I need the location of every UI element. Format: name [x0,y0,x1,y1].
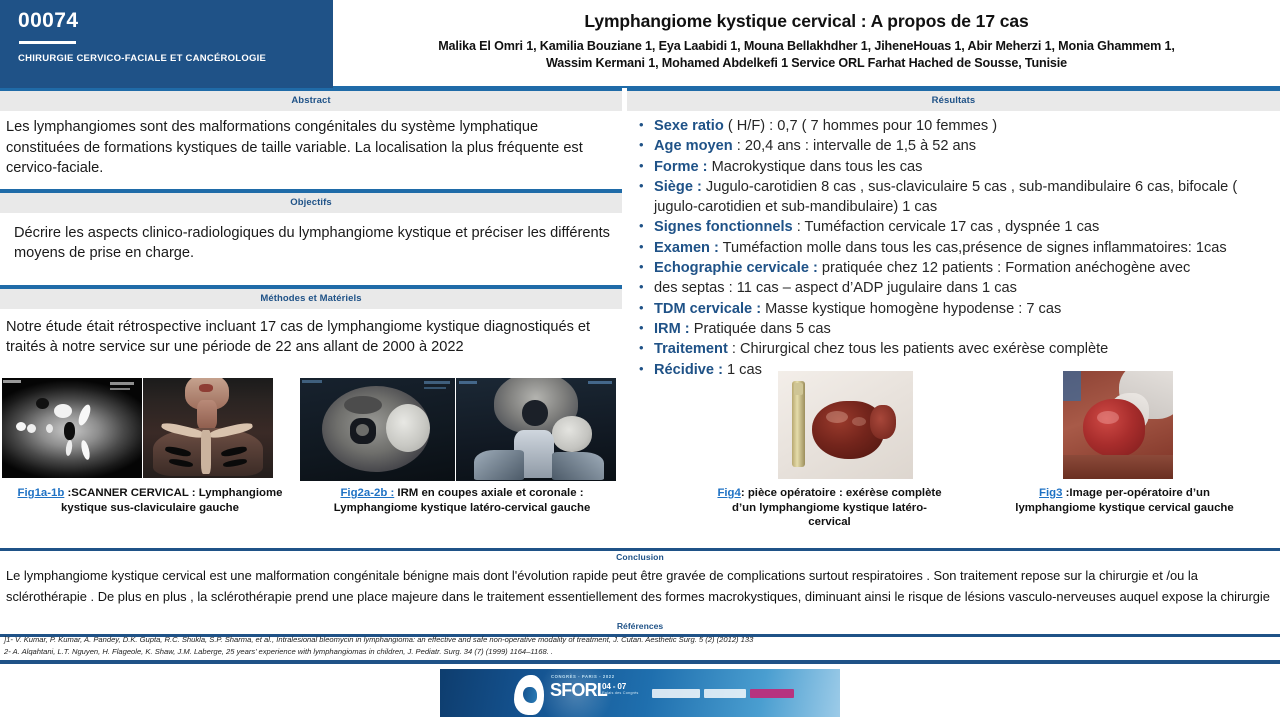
poster-columns: Abstract Les lymphangiomes sont des malf… [0,88,1280,546]
fig2-caption-line1: IRM en coupes axiale et coronale : [394,487,583,499]
right-column: Résultats Sexe ratio ( H/F) : 0,7 ( 7 ho… [627,88,1280,546]
figure-image-ct-3d-render [143,378,273,478]
poster-header: 00074 CHIRURGIE CERVICO-FACIALE ET CANCÉ… [0,0,1280,88]
fig2-caption-line2: Lymphangiome kystique latéro-cervical ga… [334,502,591,514]
list-item: Examen : Tuméfaction molle dans tous les… [637,238,1274,258]
objectifs-text: Décrire les aspects clinico-radiologique… [0,213,622,268]
result-key: Examen : [654,240,719,256]
left-column: Abstract Les lymphangiomes sont des malf… [0,88,622,546]
fig3-caption-line2: lymphangiome kystique cervical gauche [1015,502,1233,514]
section-header-references: Références [0,620,1280,634]
poster-canvas: 00074 CHIRURGIE CERVICO-FACIALE ET CANCÉ… [0,0,1280,720]
result-value: Macrokystique dans tous les cas [708,159,923,175]
result-key: Age moyen [654,138,733,154]
sforl-face-logo-icon [514,675,544,715]
result-key: Signes fonctionnels [654,219,793,235]
sforl-subtitle: Palais des Congrès [602,691,639,695]
figure-image-mri-coronal [456,378,616,481]
list-item: Siège : Jugulo-carotidien 8 cas , sus-cl… [637,177,1274,218]
figure-image-ct-axial [2,378,142,478]
result-value: pratiquée chez 12 patients : Formation a… [818,260,1190,276]
sforl-logo-text: SFORL [550,680,607,701]
result-key: TDM cervicale : [654,301,761,317]
fig4-caption-line1: : pièce opératoire : exérèse complète [741,487,942,499]
id-divider [19,41,76,44]
references-bottom-rule [0,660,1280,664]
fig1-link[interactable]: Fig1a-1b [18,487,65,499]
list-item: IRM : Pratiquée dans 5 cas [637,319,1274,339]
page-title: Lymphangiome kystique cervical : A propo… [349,9,1264,33]
figure-image-mri-axial [300,378,455,481]
references-section: Références ]1- V. Kumar, P. Kumar, A. Pa… [0,620,1280,664]
figure-caption-fig4: Fig4: pièce opératoire : exérèse complèt… [657,486,1002,530]
result-key: Siège : [654,179,702,195]
sforl-kicker-text: CONGRÈS - PARIS - 2022 [551,674,615,679]
result-key: Traitement [654,341,728,357]
sponsor-badge-3 [750,689,794,698]
result-key: Echographie cervicale : [654,260,818,276]
result-value: Masse kystique homogène hypodense : 7 ca… [761,301,1061,317]
fig3-link[interactable]: Fig3 [1039,487,1062,499]
list-item: Echographie cervicale : pratiquée chez 1… [637,258,1274,278]
figure-image-intraoperative [1063,371,1173,479]
poster-id-number: 00074 [18,8,319,34]
sponsor-badge-1 [652,689,700,698]
abstract-text: Les lymphangiomes sont des malformations… [0,111,622,183]
figure-caption-fig3: Fig3 :Image per-opératoire d’un lymphang… [972,486,1277,515]
section-header-objectifs: Objectifs [0,189,622,213]
results-list: Sexe ratio ( H/F) : 0,7 ( 7 hommes pour … [627,111,1280,380]
result-value: Tuméfaction molle dans tous les cas,prés… [719,240,1227,256]
section-header-abstract: Abstract [0,88,622,111]
section-title-conclusion: Conclusion [0,551,1280,563]
fig1-caption-line2: kystique sus-claviculaire gauche [61,502,239,514]
result-key: Récidive : [654,362,723,378]
section-header-resultats: Résultats [627,88,1280,111]
section-title-methodes: Méthodes et Matériels [0,289,622,309]
list-item: TDM cervicale : Masse kystique homogène … [637,299,1274,319]
result-value: : 20,4 ans : intervalle de 1,5 à 52 ans [733,138,976,154]
section-title-abstract: Abstract [0,91,622,111]
poster-id-panel: 00074 CHIRURGIE CERVICO-FACIALE ET CANCÉ… [0,0,333,88]
reference-item: ]1- V. Kumar, P. Kumar, A. Pandey, D.K. … [0,634,1280,646]
sforl-dates: 04 - 07 [602,682,626,691]
figure-image-surgical-specimen [778,371,913,479]
list-item: Traitement : Chirurgical chez tous les p… [637,339,1274,359]
result-value: 1 cas [723,362,762,378]
title-block: Lymphangiome kystique cervical : A propo… [333,0,1280,86]
result-value: : Tuméfaction cervicale 17 cas , dyspnée… [793,219,1100,235]
figure-caption-fig1: Fig1a-1b :SCANNER CERVICAL : Lymphangiom… [0,486,300,515]
section-header-conclusion: Conclusion [0,548,1280,563]
result-key: Forme : [654,159,708,175]
list-item: Récidive : 1 cas [637,360,1274,380]
fig2-link[interactable]: Fig2a-2b : [340,487,394,499]
result-value: : Chirurgical chez tous les patients ave… [728,341,1108,357]
section-title-objectifs: Objectifs [0,193,622,213]
section-title-resultats: Résultats [627,91,1280,111]
author-line-1: Malika El Omri 1, Kamilia Bouziane 1, Ey… [349,38,1264,55]
list-item: Sexe ratio ( H/F) : 0,7 ( 7 hommes pour … [637,116,1274,136]
result-key: IRM : [654,321,690,337]
sforl-conference-banner: CONGRÈS - PARIS - 2022 SFORL 04 - 07 Pal… [440,669,840,717]
result-value: Jugulo-carotidien 8 cas , sus-claviculai… [654,179,1237,215]
list-item: Signes fonctionnels : Tuméfaction cervic… [637,217,1274,237]
section-title-references: Références [0,620,1280,634]
result-value: des septas : 11 cas – aspect d’ADP jugul… [654,280,1017,296]
fig4-caption-line2: d’un lymphangiome kystique latéro- [732,502,927,514]
poster-department-label: CHIRURGIE CERVICO-FACIALE ET CANCÉROLOGI… [18,53,319,65]
list-item: Forme : Macrokystique dans tous les cas [637,157,1274,177]
methodes-text: Notre étude était rétrospective incluant… [0,309,622,362]
poster-footer: CONGRÈS - PARIS - 2022 SFORL 04 - 07 Pal… [0,669,1280,720]
fig4-link[interactable]: Fig4 [717,487,740,499]
fig3-caption-line1: :Image per-opératoire d’un [1062,487,1209,499]
list-item: des septas : 11 cas – aspect d’ADP jugul… [637,278,1274,298]
left-figure-row [0,378,622,546]
list-item: Age moyen : 20,4 ans : intervalle de 1,5… [637,136,1274,156]
result-key: Sexe ratio [654,118,724,134]
section-header-methodes: Méthodes et Matériels [0,285,622,309]
fig4-caption-line3: cervical [808,516,850,528]
fig1-caption-line1: :SCANNER CERVICAL : Lymphangiome [64,487,282,499]
sponsor-badge-2 [704,689,746,698]
reference-item: 2- A. Alqahtani, L.T. Nguyen, H. Flageol… [0,646,1280,658]
result-value: ( H/F) : 0,7 ( 7 hommes pour 10 femmes ) [724,118,997,134]
author-line-2: Wassim Kermani 1, Mohamed Abdelkefi 1 Se… [349,55,1264,72]
result-value: Pratiquée dans 5 cas [690,321,831,337]
figure-caption-fig2: Fig2a-2b : IRM en coupes axiale et coron… [306,486,618,515]
